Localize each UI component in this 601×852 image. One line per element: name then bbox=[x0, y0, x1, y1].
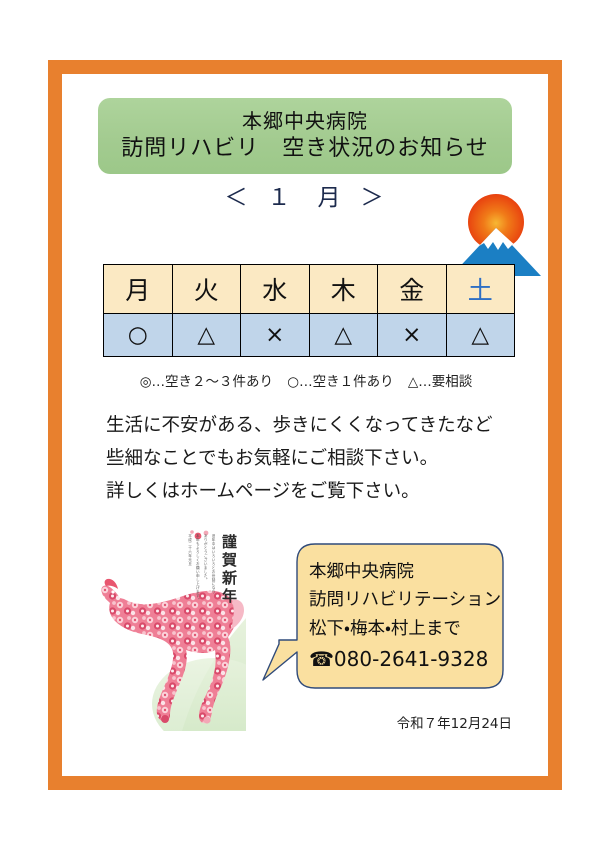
poster-subtitle: 訪問リハビリ 空き状況のお知らせ bbox=[121, 136, 489, 161]
next-month-button[interactable]: ＞ bbox=[361, 178, 386, 212]
day-cell-mon: 月 bbox=[104, 265, 173, 314]
table-row-days: 月 火 水 木 金 土 bbox=[104, 265, 515, 314]
kinga-shinnen-greeting: 謹賀新年 bbox=[219, 534, 240, 606]
legend-item-circle: ○…空き１件あり bbox=[287, 374, 393, 390]
status-legend: ◎…空き２～３件あり ○…空き１件あり △…要相談 bbox=[96, 370, 516, 390]
status-cell-sat: △ bbox=[446, 314, 515, 357]
contact-phone-row[interactable]: ☎080-2641-9328 bbox=[309, 643, 499, 675]
card-fineprint-line-4: 平成二十六年元旦 bbox=[187, 534, 194, 566]
status-cell-tue: △ bbox=[172, 314, 241, 357]
contact-phone-number: 080-2641-9328 bbox=[334, 647, 488, 671]
contact-staff-names: 松下・梅本・村上まで bbox=[309, 615, 499, 643]
current-month-label: １ 月 bbox=[268, 178, 343, 212]
day-cell-sat: 土 bbox=[446, 265, 515, 314]
contact-speech-bubble: 本郷中央病院 訪問リハビリテーション 松下・梅本・村上まで ☎080-2641-… bbox=[257, 540, 507, 692]
status-cell-wed: × bbox=[241, 314, 310, 357]
hospital-name-title: 本郷中央病院 bbox=[242, 110, 368, 133]
legend-item-triangle: △…要相談 bbox=[408, 374, 472, 390]
status-cell-thu: △ bbox=[309, 314, 378, 357]
day-cell-tue: 火 bbox=[172, 265, 241, 314]
poster-header-box: 本郷中央病院 訪問リハビリ 空き状況のお知らせ bbox=[98, 98, 512, 174]
card-fineprint-line-2: ありがとうございました。 bbox=[202, 534, 209, 582]
contact-hospital-name: 本郷中央病院 bbox=[309, 558, 499, 586]
availability-table: 月 火 水 木 金 土 ○ △ × △ × △ bbox=[103, 264, 515, 357]
card-fineprint-line-3: 本年もよろしくお願い申し上げます。 bbox=[195, 534, 202, 602]
legend-item-double-circle: ◎…空き２～３件あり bbox=[140, 374, 273, 390]
poster-orange-frame: 本郷中央病院 訪問リハビリ 空き状況のお知らせ ＜ １ 月 ＞ bbox=[48, 60, 562, 790]
contact-department: 訪問リハビリテーション bbox=[309, 586, 499, 614]
day-cell-fri: 金 bbox=[378, 265, 447, 314]
contact-details: 本郷中央病院 訪問リハビリテーション 松下・梅本・村上まで ☎080-2641-… bbox=[309, 558, 499, 675]
status-cell-fri: × bbox=[378, 314, 447, 357]
telephone-icon: ☎ bbox=[309, 647, 334, 671]
status-cell-mon: ○ bbox=[104, 314, 173, 357]
body-line-3: 詳しくはホームページをご覧下さい。 bbox=[106, 476, 526, 509]
body-line-2: 些細なことでもお気軽にご相談下さい。 bbox=[106, 443, 526, 476]
card-fineprint-line-1: 旧年中はいろいろとお世話になり bbox=[210, 534, 217, 594]
issue-date-label: 令和７年12月24日 bbox=[312, 712, 512, 732]
table-row-status: ○ △ × △ × △ bbox=[104, 314, 515, 357]
day-cell-thu: 木 bbox=[309, 265, 378, 314]
card-greeting-block: 謹賀新年 旧年中はいろいろとお世話になり ありがとうございました。 本年もよろし… bbox=[186, 534, 240, 654]
new-year-card-image: 謹賀新年 旧年中はいろいろとお世話になり ありがとうございました。 本年もよろし… bbox=[86, 526, 246, 731]
poster-content-area: 本郷中央病院 訪問リハビリ 空き状況のお知らせ ＜ １ 月 ＞ bbox=[62, 74, 548, 776]
notice-body-text: 生活に不安がある、歩きにくくなってきたなど 些細なことでもお気軽にご相談下さい。… bbox=[106, 410, 526, 509]
day-cell-wed: 水 bbox=[241, 265, 310, 314]
prev-month-button[interactable]: ＜ bbox=[225, 178, 250, 212]
body-line-1: 生活に不安がある、歩きにくくなってきたなど bbox=[106, 410, 526, 443]
